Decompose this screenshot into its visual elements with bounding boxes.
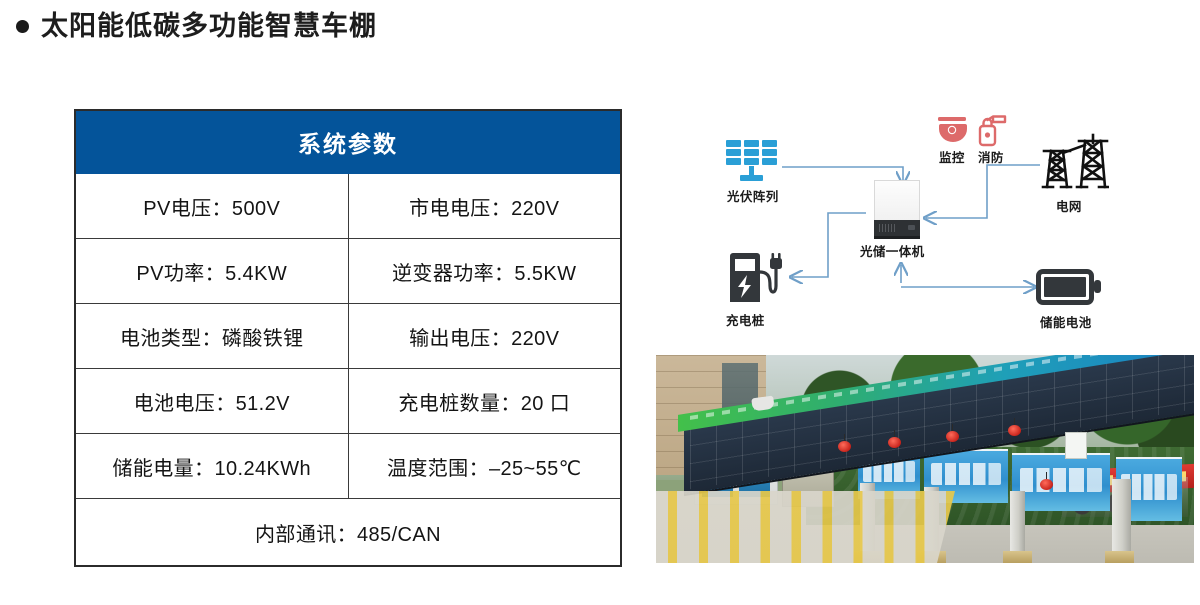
inverter-cabinet-icon <box>874 180 920 236</box>
cell-pv-power: PV功率：5.4KW <box>75 239 348 304</box>
page-title-text: 太阳能低碳多功能智慧车棚 <box>41 12 377 42</box>
cell-internal-communication: 内部通讯：485/CAN <box>75 499 621 567</box>
system-parameters-table: 系统参数 PV电压：500V 市电电压：220V PV功率：5.4KW 逆变器功… <box>74 109 622 567</box>
cell-mains-voltage: 市电电压：220V <box>348 174 621 239</box>
cell-pv-voltage: PV电压：500V <box>75 174 348 239</box>
photo-lantern <box>888 437 901 448</box>
photo-notice-board <box>1065 432 1087 459</box>
node-label-charging-pile: 充电桩 <box>726 310 765 329</box>
carport-photo <box>656 355 1194 563</box>
photo-parking-bay-markings <box>656 491 955 563</box>
table-header-row: 系统参数 <box>75 110 621 174</box>
node-label-hybrid-inverter: 光储一体机 <box>860 241 925 260</box>
arrow-grid-to-inverter <box>926 165 1040 218</box>
node-label-fire-protection: 消防 <box>978 147 1004 166</box>
cell-output-voltage: 输出电压：220V <box>348 304 621 369</box>
node-label-monitoring: 监控 <box>939 147 965 166</box>
photo-pillar <box>1112 479 1131 557</box>
cell-battery-type: 电池类型：磷酸铁锂 <box>75 304 348 369</box>
photo-lantern <box>946 431 959 442</box>
arrow-inverter-to-charger <box>792 213 866 277</box>
photo-pillar <box>1010 491 1025 557</box>
cell-temperature-range: 温度范围：–25~55℃ <box>348 434 621 499</box>
table-row: 储能电量：10.24KWh 温度范围：–25~55℃ <box>75 434 621 499</box>
table-row: 内部通讯：485/CAN <box>75 499 621 567</box>
node-label-power-grid: 电网 <box>1056 196 1082 215</box>
table-row: 电池类型：磷酸铁锂 输出电压：220V <box>75 304 621 369</box>
ev-charger-icon <box>724 252 786 306</box>
node-label-storage-battery: 储能电池 <box>1040 312 1092 331</box>
transmission-tower-icon <box>1041 133 1109 195</box>
battery-icon <box>1035 265 1103 309</box>
photo-billboard <box>1012 453 1110 511</box>
table-row: PV功率：5.4KW 逆变器功率：5.5KW <box>75 239 621 304</box>
photo-lantern <box>1040 479 1053 490</box>
table-header-cell: 系统参数 <box>75 110 621 174</box>
solar-panel-icon <box>724 138 782 184</box>
table-row: PV电压：500V 市电电压：220V <box>75 174 621 239</box>
cell-charger-count: 充电桩数量：20 口 <box>348 369 621 434</box>
page-title: 太阳能低碳多功能智慧车棚 <box>16 12 377 42</box>
table-row: 电池电压：51.2V 充电桩数量：20 口 <box>75 369 621 434</box>
cctv-camera-icon <box>937 117 970 147</box>
bullet-dot-icon <box>16 20 29 33</box>
photo-lantern <box>838 441 851 452</box>
fire-extinguisher-icon <box>976 114 1008 147</box>
cell-storage-capacity: 储能电量：10.24KWh <box>75 434 348 499</box>
photo-lantern <box>1008 425 1021 436</box>
system-flow-diagram: 光伏阵列 监控 消防 <box>656 110 1194 342</box>
node-label-pv-array: 光伏阵列 <box>727 186 779 205</box>
cell-battery-voltage: 电池电压：51.2V <box>75 369 348 434</box>
cell-inverter-power: 逆变器功率：5.5KW <box>348 239 621 304</box>
